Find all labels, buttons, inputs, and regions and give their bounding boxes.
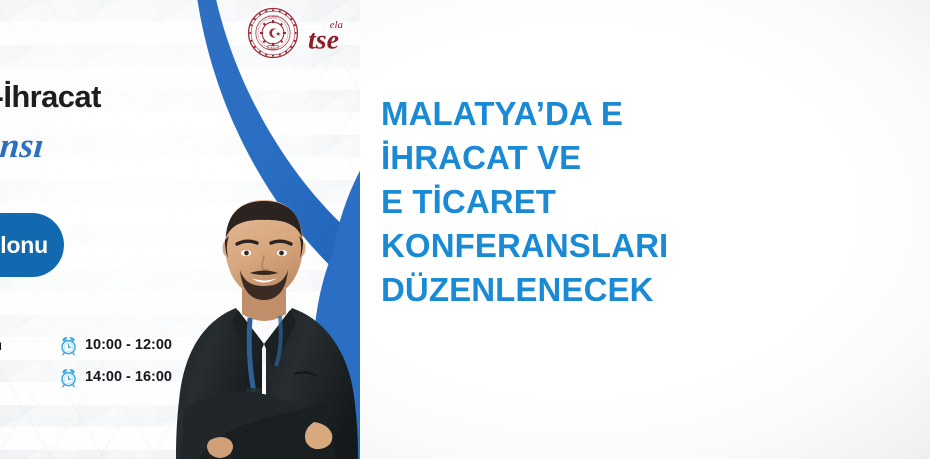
schedule-row: i Odası 14:00 - 16:00: [0, 361, 172, 393]
svg-text:TICARET: TICARET: [268, 15, 279, 18]
poster-title: t & E-İhracat: [0, 79, 101, 115]
headline-line: E TİCARET: [381, 180, 921, 224]
poster-logo-row: T.C. TICARET ela tse: [247, 4, 360, 62]
svg-text:T.C.: T.C.: [271, 46, 276, 50]
article-headline: MALATYA’DA E İHRACAT VE E TİCARET KONFER…: [381, 92, 921, 312]
headline-line: KONFERANSLARI: [381, 224, 921, 268]
headline-panel: MALATYA’DA E İHRACAT VE E TİCARET KONFER…: [360, 0, 930, 459]
venue-pill-label: lonu: [0, 232, 48, 259]
tse-logo: ela tse: [307, 12, 360, 54]
tse-wordmark-text: tse: [308, 24, 339, 54]
schedule-time: 14:00 - 16:00: [85, 369, 172, 385]
conference-poster: T.C. TICARET ela tse t & E-İhracat feran…: [0, 0, 360, 459]
headline-line: DÜZENLENECEK: [381, 268, 921, 312]
headline-line: İHRACAT VE: [381, 136, 921, 180]
schedule-row: ayi Odası 10:00 - 12:00: [0, 329, 172, 361]
news-article-image: T.C. TICARET ela tse t & E-İhracat feran…: [0, 0, 930, 459]
headline-line: MALATYA’DA E: [381, 92, 921, 136]
poster-subtitle: feransı: [0, 126, 46, 166]
alarm-clock-icon: [59, 367, 78, 388]
speaker-portrait: [176, 196, 358, 459]
ministry-emblem-logo: T.C. TICARET: [247, 7, 299, 59]
alarm-clock-icon: [59, 335, 78, 356]
venue-pill: lonu: [0, 213, 64, 277]
schedule-place: ayi Odası: [0, 338, 57, 353]
schedule-place: i Odası: [0, 370, 57, 385]
schedule-time: 10:00 - 12:00: [85, 337, 172, 353]
schedule-list: ayi Odası 10:00 - 12:00 i Odası: [0, 329, 172, 393]
